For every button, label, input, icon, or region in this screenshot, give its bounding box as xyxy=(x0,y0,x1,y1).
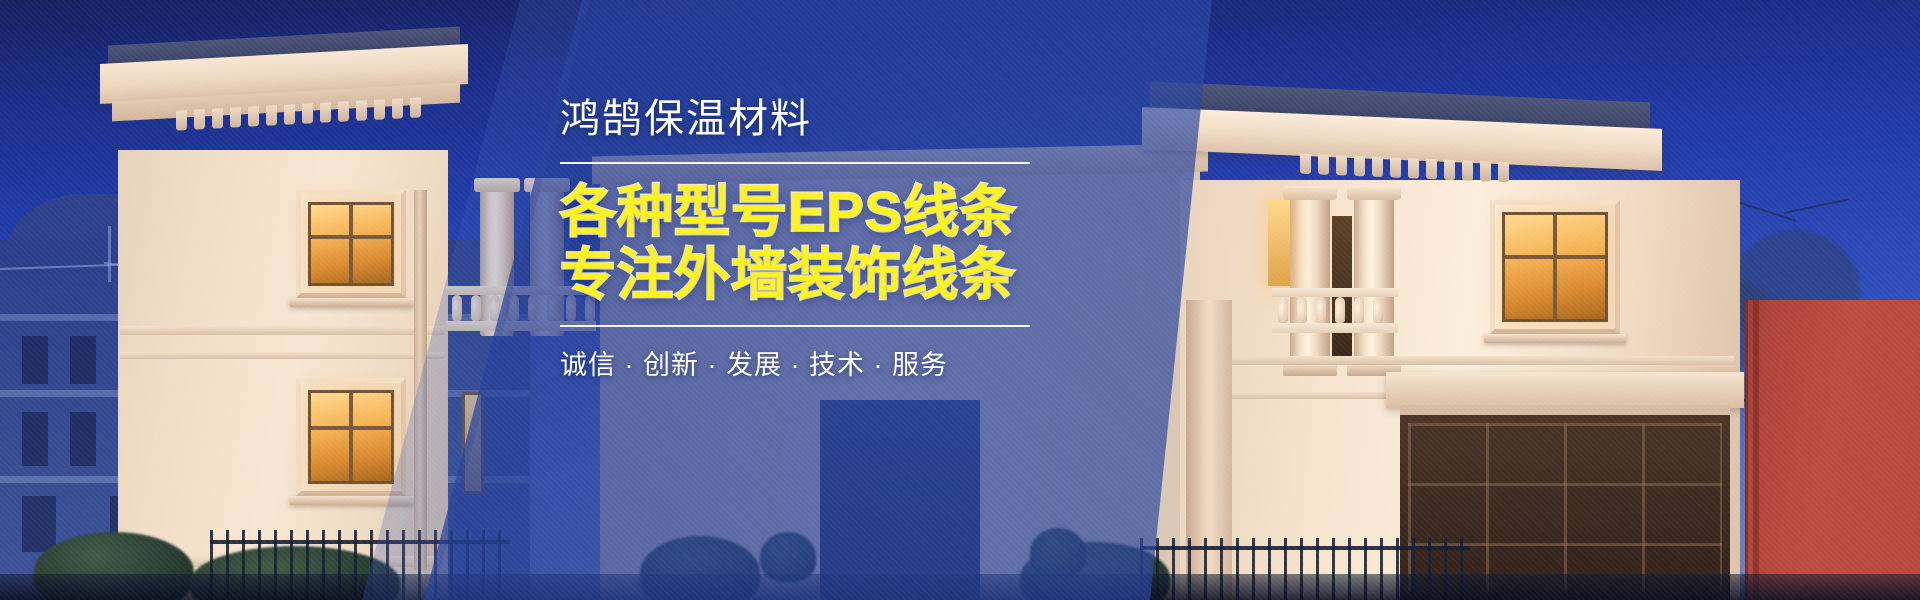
portico-column xyxy=(1290,196,1330,366)
divider-bottom xyxy=(560,325,1030,327)
window-sill xyxy=(290,298,414,307)
tagline: 诚信 · 创新 · 发展 · 技术 · 服务 xyxy=(560,343,1030,382)
divider-top xyxy=(560,162,1030,164)
lit-window xyxy=(308,390,394,484)
column-capital xyxy=(1283,186,1337,200)
company-name: 鸿鹄保温材料 xyxy=(560,96,1030,142)
fence-rail xyxy=(1140,546,1470,550)
lit-window xyxy=(308,202,394,286)
portico-column xyxy=(1354,196,1394,366)
promo-banner: 鸿鹄保温材料 各种型号EPS线条 专注外墙装饰线条 诚信 · 创新 · 发展 ·… xyxy=(0,0,1920,600)
lit-window xyxy=(1502,212,1608,322)
banner-content: 鸿鹄保温材料 各种型号EPS线条 专注外墙装饰线条 诚信 · 创新 · 发展 ·… xyxy=(560,96,1030,382)
window-sill xyxy=(1484,334,1626,343)
wall-band xyxy=(120,352,444,359)
balcony-base xyxy=(1272,323,1398,333)
column-base xyxy=(1283,364,1337,376)
wall-band xyxy=(1186,356,1734,365)
headline: 各种型号EPS线条 专注外墙装饰线条 xyxy=(560,180,1030,307)
headline-line-2: 专注外墙装饰线条 xyxy=(560,243,1030,306)
balusters xyxy=(1278,297,1383,323)
garage-lintel xyxy=(1386,372,1744,408)
headline-line-1: 各种型号EPS线条 xyxy=(560,180,1017,243)
wall-band xyxy=(120,326,444,335)
portico-alcove-light xyxy=(1268,200,1290,286)
column-capital xyxy=(1347,186,1401,200)
balcony-rail xyxy=(1272,288,1398,297)
